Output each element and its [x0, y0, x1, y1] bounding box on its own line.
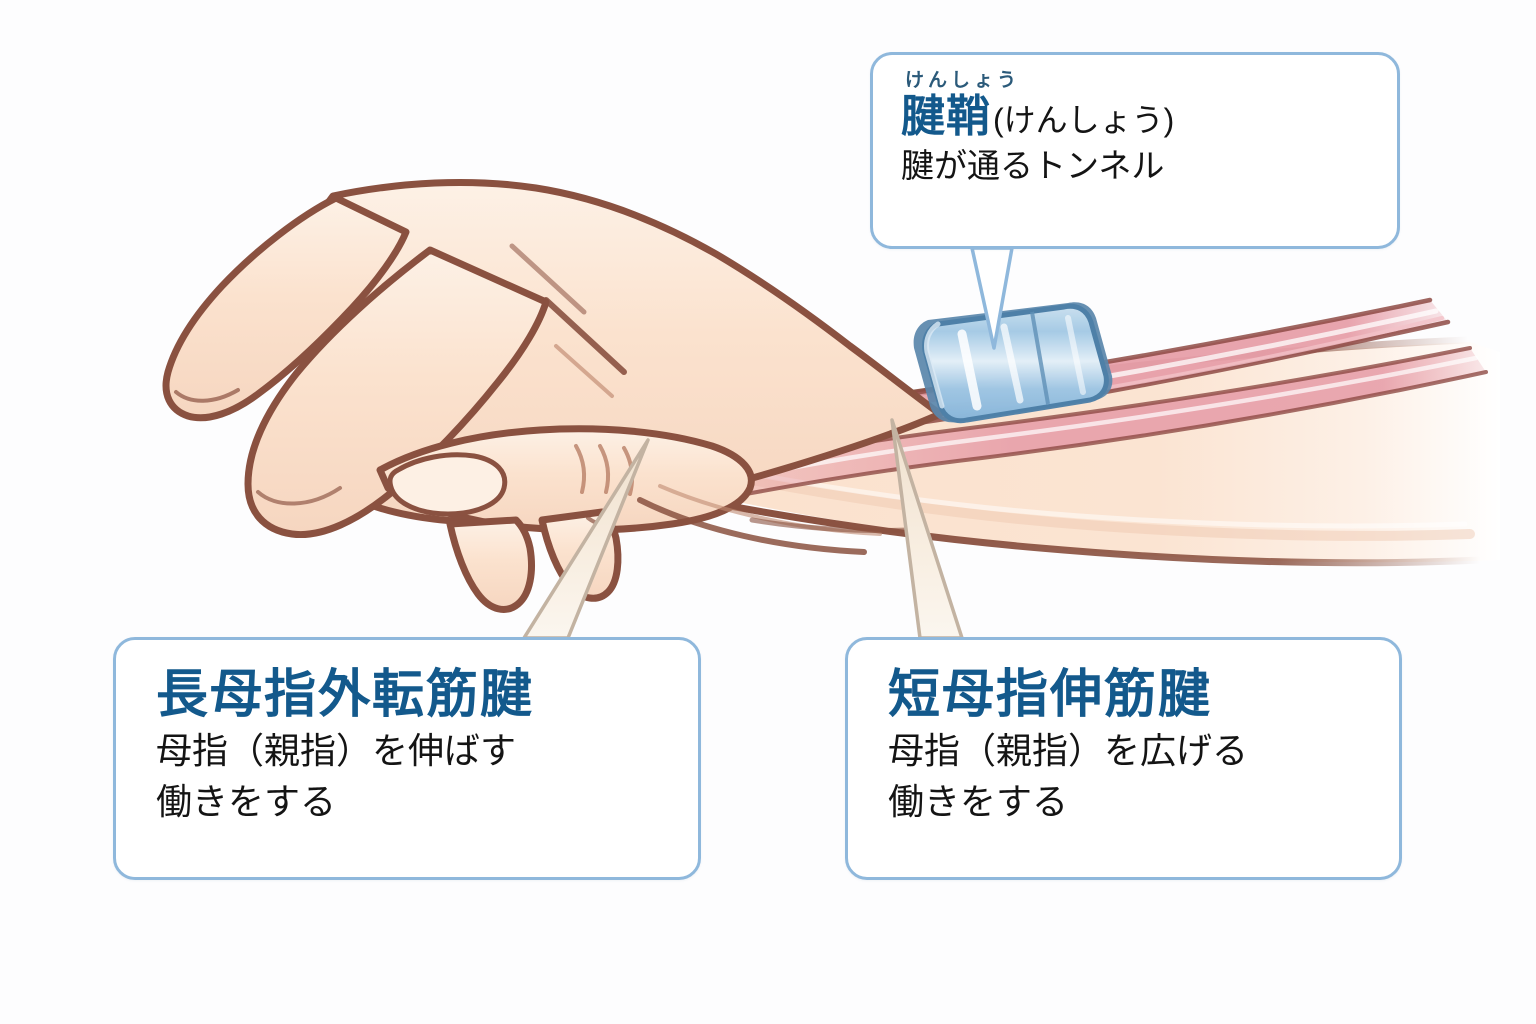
callout-apl-description-line1: 母指（親指）を伸ばす	[156, 728, 672, 775]
callout-sheath-heading: 腱鞘	[901, 92, 991, 141]
callout-sheath-heading-reading: (けんしょう)	[993, 103, 1174, 139]
callout-extensor-pollicis-brevis[interactable]: 短母指伸筋腱 母指（親指）を広げる 働きをする	[845, 637, 1402, 880]
callout-sheath-description: 腱が通るトンネル	[901, 145, 1377, 187]
callout-epb-heading: 短母指伸筋腱	[888, 666, 1212, 724]
callout-apl-heading-row: 長母指外転筋腱	[156, 666, 672, 724]
callout-epb-description-line2: 働きをする	[888, 779, 1373, 826]
callout-tendon-sheath[interactable]: けんしょう 腱鞘 (けんしょう) 腱が通るトンネル	[870, 52, 1400, 249]
callout-apl-description-line2: 働きをする	[156, 779, 672, 826]
callout-sheath-heading-row: 腱鞘 (けんしょう)	[901, 92, 1377, 141]
hand	[166, 182, 940, 609]
callout-apl-heading: 長母指外転筋腱	[156, 666, 534, 724]
callout-abductor-pollicis-longus[interactable]: 長母指外転筋腱 母指（親指）を伸ばす 働きをする	[113, 637, 701, 880]
callout-sheath-ruby: けんしょう	[905, 71, 1377, 90]
figure-canvas: けんしょう 腱鞘 (けんしょう) 腱が通るトンネル 長母指外転筋腱 母指（親指）…	[0, 0, 1536, 1024]
callout-epb-description-line1: 母指（親指）を広げる	[888, 728, 1373, 775]
callout-epb-heading-row: 短母指伸筋腱	[888, 666, 1373, 724]
